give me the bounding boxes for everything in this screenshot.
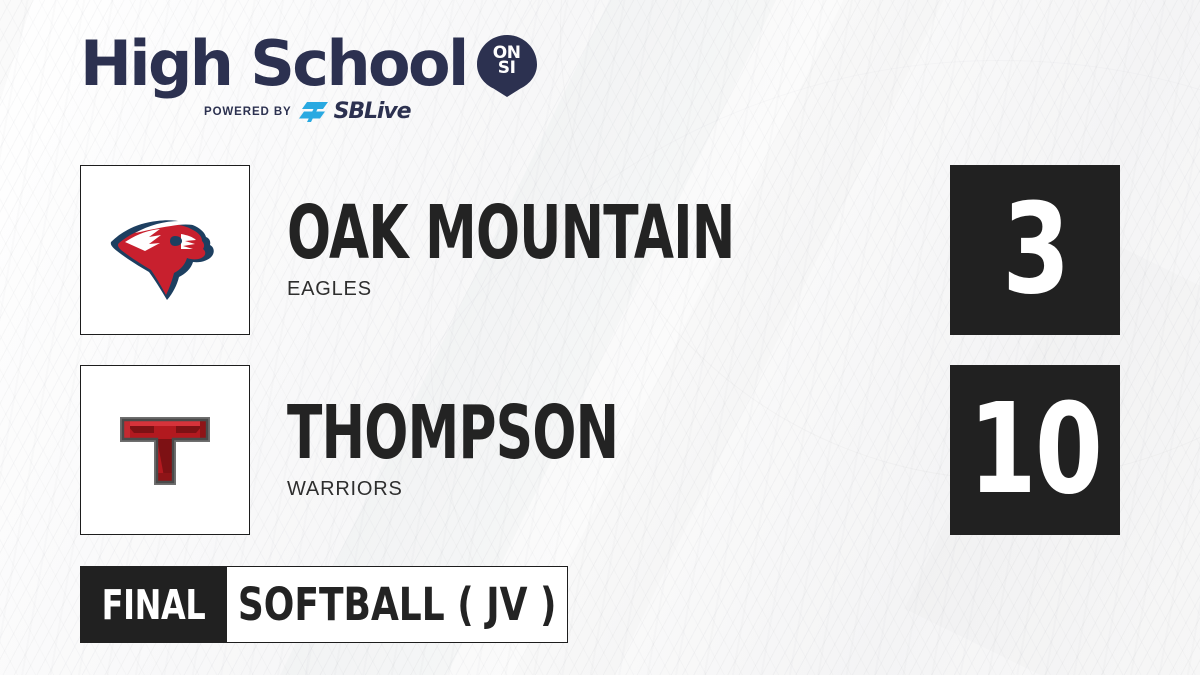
team-mascot: EAGLES: [287, 278, 926, 301]
map-pin-label: ON SI: [476, 46, 538, 76]
game-status-badge: FINAL: [80, 566, 227, 643]
team-score: 10: [969, 395, 1102, 505]
scoreboard-graphic: High School ON SI POWERED BY SBLive: [0, 0, 1200, 675]
team-mascot: WARRIORS: [287, 478, 760, 501]
powered-by-label: POWERED BY: [204, 106, 292, 118]
game-status-label: FINAL: [102, 586, 206, 624]
status-bar: FINAL SOFTBALL ( JV ): [80, 566, 568, 643]
powered-by-row: POWERED BY SBLive: [204, 101, 538, 123]
team-score-box: 10: [950, 365, 1120, 535]
team-score-box: 3: [950, 165, 1120, 335]
team-score: 3: [1002, 195, 1068, 305]
brand-logo-row: High School ON SI: [80, 33, 538, 97]
team-logo-box: [80, 165, 250, 335]
sport-label-panel: SOFTBALL ( JV ): [227, 566, 568, 643]
team-info: OAK MOUNTAIN EAGLES: [287, 200, 926, 301]
team-logo-box: [80, 365, 250, 535]
map-pin-icon: ON SI: [476, 35, 538, 97]
team-name: THOMPSON: [287, 400, 618, 466]
sblive-bolt-icon: [299, 101, 329, 123]
team-info: THOMPSON WARRIORS: [287, 400, 760, 501]
sport-label: SOFTBALL ( JV ): [238, 584, 557, 626]
team-name: OAK MOUNTAIN: [287, 200, 735, 266]
brand-header: High School ON SI POWERED BY SBLive: [80, 33, 538, 123]
pin-label-line-2: SI: [476, 61, 538, 76]
brand-wordmark: High School: [80, 33, 467, 95]
background-band: [0, 0, 87, 675]
thompson-warriors-logo: [110, 395, 220, 505]
sponsor-wordmark: SBLive: [334, 102, 411, 122]
oak-mountain-eagles-logo: [105, 190, 225, 310]
